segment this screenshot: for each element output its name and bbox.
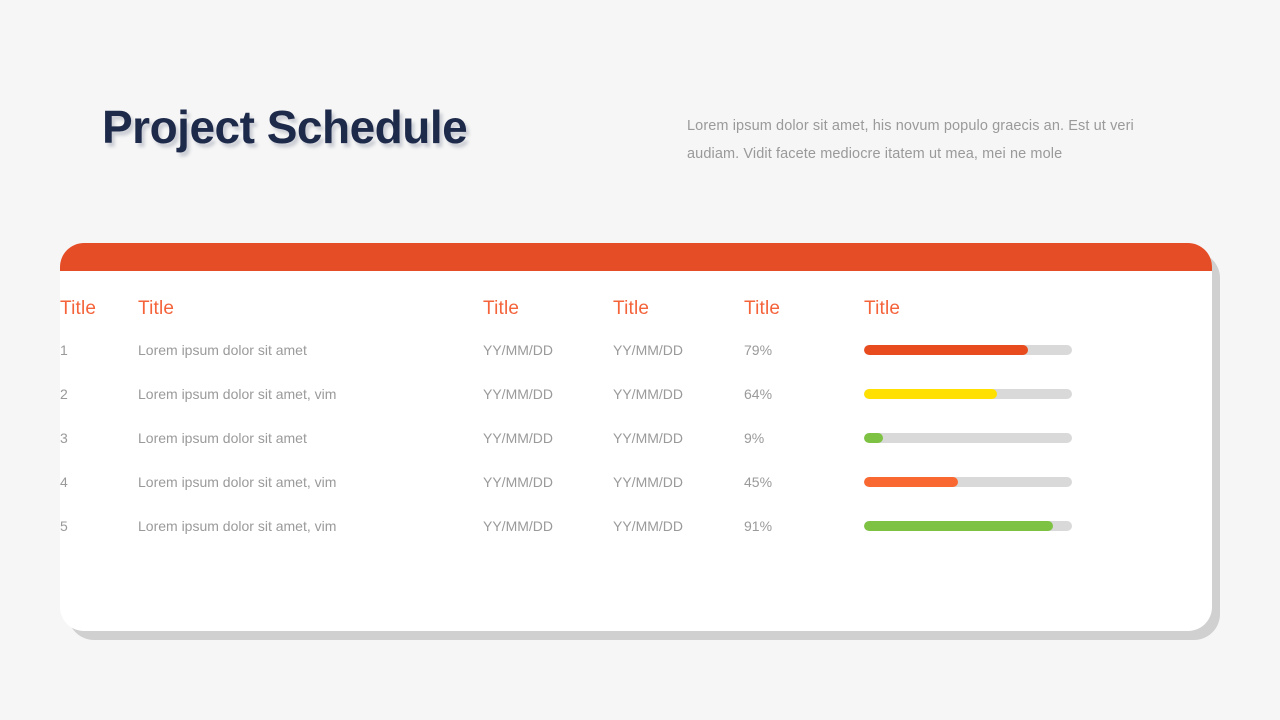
row-number: 1 [60,328,138,372]
row-progress-cell [864,416,1212,460]
table-row[interactable]: 5Lorem ipsum dolor sit amet, vimYY/MM/DD… [60,504,1212,548]
column-header-number[interactable]: Title [60,271,138,328]
progress-bar-fill [864,345,1028,355]
row-start-date: YY/MM/DD [483,328,613,372]
row-task-description: Lorem ipsum dolor sit amet, vim [138,460,483,504]
progress-bar-track [864,521,1072,531]
progress-bar-track [864,433,1072,443]
schedule-card: Title Title Title Title Title Title 1Lor… [60,243,1212,631]
header-area: Project Schedule Lorem ipsum dolor sit a… [0,0,1280,210]
table-row[interactable]: 4Lorem ipsum dolor sit amet, vimYY/MM/DD… [60,460,1212,504]
progress-bar-track [864,389,1072,399]
column-header-percent[interactable]: Title [744,271,864,328]
row-number: 4 [60,460,138,504]
progress-bar-fill [864,433,883,443]
progress-bar-fill [864,521,1053,531]
row-end-date: YY/MM/DD [613,504,744,548]
table-header-row: Title Title Title Title Title Title [60,271,1212,328]
row-end-date: YY/MM/DD [613,372,744,416]
page-subtitle: Lorem ipsum dolor sit amet, his novum po… [687,112,1182,168]
row-number: 3 [60,416,138,460]
row-progress-cell [864,504,1212,548]
row-start-date: YY/MM/DD [483,504,613,548]
row-percent-label: 91% [744,504,864,548]
row-number: 5 [60,504,138,548]
row-percent-label: 45% [744,460,864,504]
row-end-date: YY/MM/DD [613,416,744,460]
row-start-date: YY/MM/DD [483,416,613,460]
column-header-progress[interactable]: Title [864,271,1212,328]
table-row[interactable]: 1Lorem ipsum dolor sit ametYY/MM/DDYY/MM… [60,328,1212,372]
row-task-description: Lorem ipsum dolor sit amet [138,416,483,460]
row-progress-cell [864,372,1212,416]
column-header-end[interactable]: Title [613,271,744,328]
row-progress-cell [864,328,1212,372]
row-progress-cell [864,460,1212,504]
row-task-description: Lorem ipsum dolor sit amet, vim [138,504,483,548]
progress-bar-fill [864,389,997,399]
progress-bar-fill [864,477,958,487]
page-title: Project Schedule [102,100,467,154]
row-end-date: YY/MM/DD [613,328,744,372]
row-task-description: Lorem ipsum dolor sit amet, vim [138,372,483,416]
row-percent-label: 64% [744,372,864,416]
row-percent-label: 79% [744,328,864,372]
row-percent-label: 9% [744,416,864,460]
column-header-task[interactable]: Title [138,271,483,328]
progress-bar-track [864,345,1072,355]
row-start-date: YY/MM/DD [483,372,613,416]
table-row[interactable]: 3Lorem ipsum dolor sit ametYY/MM/DDYY/MM… [60,416,1212,460]
row-end-date: YY/MM/DD [613,460,744,504]
row-start-date: YY/MM/DD [483,460,613,504]
row-number: 2 [60,372,138,416]
schedule-table: Title Title Title Title Title Title 1Lor… [60,271,1212,548]
card-accent-band [60,243,1212,271]
column-header-start[interactable]: Title [483,271,613,328]
progress-bar-track [864,477,1072,487]
schedule-table-body: 1Lorem ipsum dolor sit ametYY/MM/DDYY/MM… [60,328,1212,548]
table-row[interactable]: 2Lorem ipsum dolor sit amet, vimYY/MM/DD… [60,372,1212,416]
row-task-description: Lorem ipsum dolor sit amet [138,328,483,372]
schedule-table-area: Title Title Title Title Title Title 1Lor… [60,271,1212,631]
